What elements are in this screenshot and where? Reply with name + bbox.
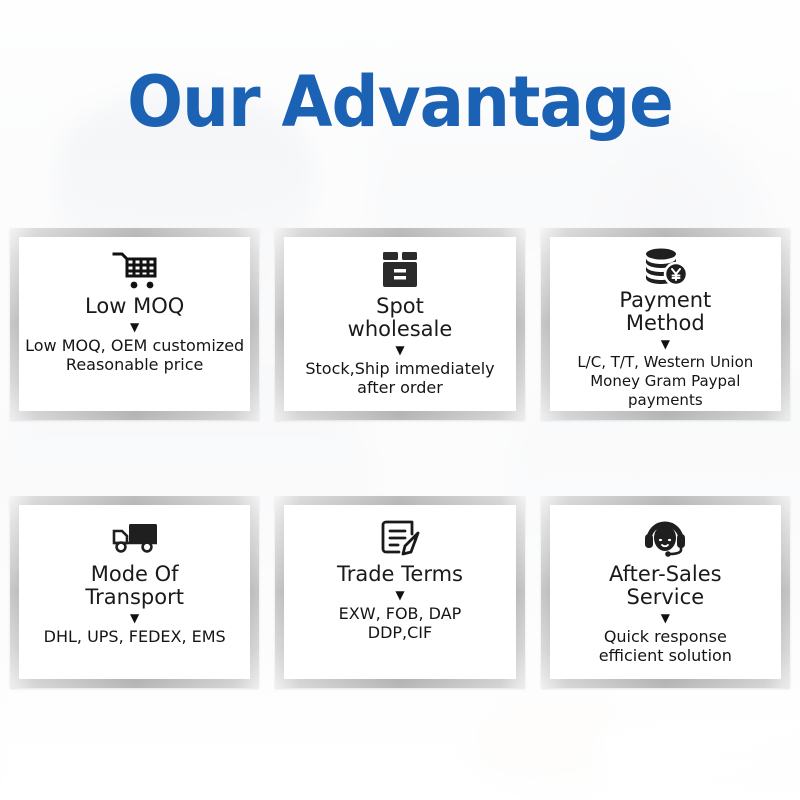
- card-description: Stock,Ship immediately after order: [305, 359, 494, 397]
- coins-yen-icon: [642, 247, 688, 287]
- package-box-icon: [380, 247, 420, 293]
- card-title: After-Sales Service: [609, 563, 722, 609]
- headset-support-icon: [642, 515, 688, 561]
- card-inner: Trade Terms ▼ EXW, FOB, DAP DDP,CIF: [284, 505, 515, 679]
- divider-arrow-icon: ▼: [395, 589, 404, 602]
- advantage-infographic: Our Advantage: [0, 0, 800, 800]
- card-title: Payment Method: [619, 289, 711, 335]
- divider-arrow-icon: ▼: [395, 344, 404, 357]
- card-inner: Mode Of Transport ▼ DHL, UPS, FEDEX, EMS: [19, 505, 250, 679]
- advantage-card-after-sales-service[interactable]: After-Sales Service ▼ Quick response eff…: [541, 496, 790, 688]
- card-description: Quick response efficient solution: [599, 627, 732, 665]
- page-title: Our Advantage: [24, 62, 776, 142]
- card-description: EXW, FOB, DAP DDP,CIF: [339, 604, 462, 642]
- divider-arrow-icon: ▼: [130, 612, 139, 625]
- advantage-card-trade-terms[interactable]: Trade Terms ▼ EXW, FOB, DAP DDP,CIF: [275, 496, 524, 688]
- advantage-card-low-moq[interactable]: Low MOQ ▼ Low MOQ, OEM customized Reason…: [10, 228, 259, 420]
- card-title: Trade Terms: [337, 563, 463, 586]
- divider-arrow-icon: ▼: [130, 321, 139, 334]
- card-title: Low MOQ: [85, 295, 184, 318]
- card-inner: Spot wholesale ▼ Stock,Ship immediately …: [284, 237, 515, 411]
- shopping-cart-icon: [112, 247, 158, 293]
- advantage-card-mode-of-transport[interactable]: Mode Of Transport ▼ DHL, UPS, FEDEX, EMS: [10, 496, 259, 688]
- card-inner: After-Sales Service ▼ Quick response eff…: [550, 505, 781, 679]
- divider-arrow-icon: ▼: [661, 338, 670, 351]
- advantage-card-payment-method[interactable]: Payment Method ▼ L/C, T/T, Western Union…: [541, 228, 790, 420]
- card-description: L/C, T/T, Western Union Money Gram Paypa…: [556, 353, 775, 410]
- card-title: Mode Of Transport: [85, 563, 184, 609]
- card-title: Spot wholesale: [348, 295, 453, 341]
- card-inner: Payment Method ▼ L/C, T/T, Western Union…: [550, 237, 781, 411]
- advantage-card-grid: Low MOQ ▼ Low MOQ, OEM customized Reason…: [10, 228, 790, 688]
- delivery-truck-icon: [110, 515, 160, 561]
- card-description: Low MOQ, OEM customized Reasonable price: [25, 336, 244, 374]
- divider-arrow-icon: ▼: [661, 612, 670, 625]
- document-pencil-icon: [378, 515, 422, 561]
- card-description: DHL, UPS, FEDEX, EMS: [44, 627, 226, 646]
- advantage-card-spot-wholesale[interactable]: Spot wholesale ▼ Stock,Ship immediately …: [275, 228, 524, 420]
- card-inner: Low MOQ ▼ Low MOQ, OEM customized Reason…: [19, 237, 250, 411]
